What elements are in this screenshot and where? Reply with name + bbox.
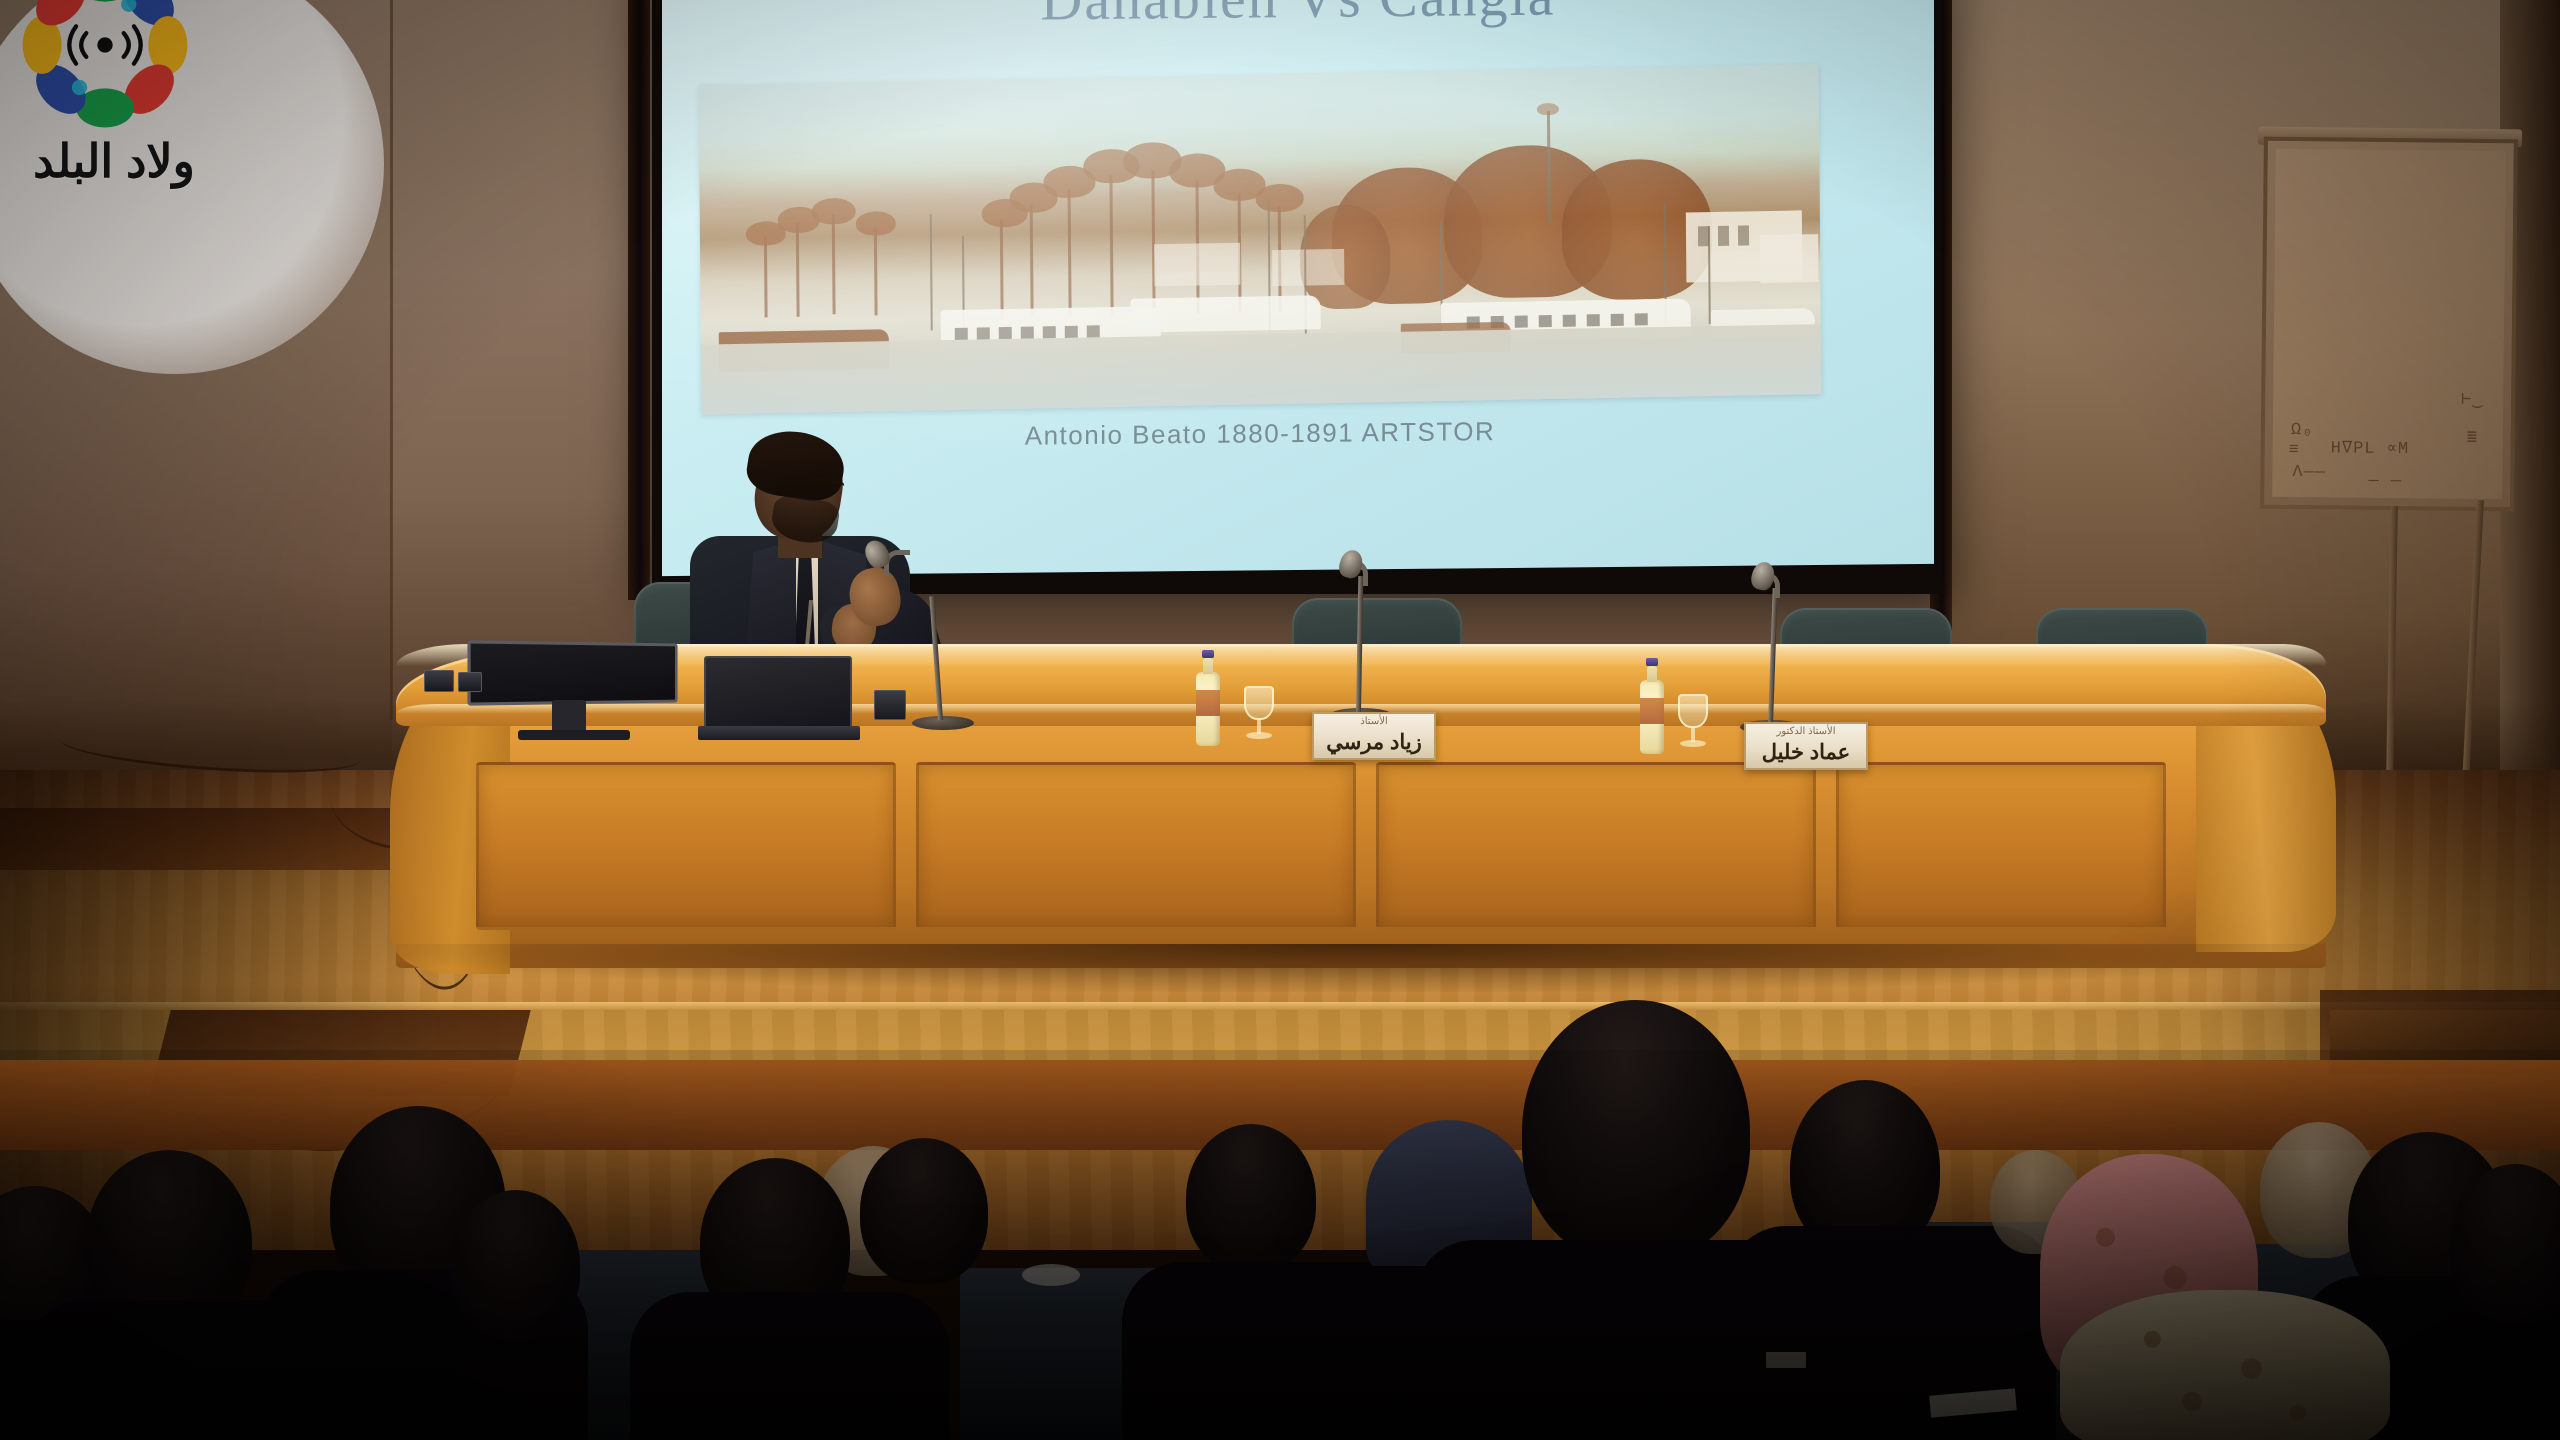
laptop-keyboard[interactable] (698, 726, 860, 740)
nameplate-name: زياد مرسي (1326, 730, 1422, 755)
bottle-neck (1203, 658, 1213, 674)
desk-device[interactable] (458, 672, 482, 692)
flipchart: Ω₀ ≡ H∇PL ∝M Λ—— — — ⊢‿ ≣ (2260, 137, 2518, 512)
wine-glass-foot (1246, 732, 1272, 739)
photo-canvas: Dahabieh Vs Cangia (0, 0, 2560, 1440)
audience-head (1522, 1000, 1750, 1262)
desk-monitor[interactable] (467, 640, 677, 705)
desk-panel-inset (476, 762, 896, 930)
flipchart-sheet: Ω₀ ≡ H∇PL ∝M Λ—— — — ⊢‿ ≣ (2272, 149, 2506, 499)
bottle-cap (1202, 650, 1214, 658)
audience-head (452, 1190, 580, 1340)
audience-paper (1022, 1264, 1080, 1286)
nameplate-name: عماد خليل (1762, 740, 1850, 765)
desk-device[interactable] (424, 670, 454, 692)
desk-panel-inset (916, 762, 1356, 930)
projection-screen: Dahabieh Vs Cangia (652, 0, 1942, 594)
wine-glass[interactable] (1678, 694, 1708, 728)
nameplate-title: الأستاذ الدكتور (1776, 727, 1835, 737)
laptop-screen[interactable] (704, 656, 852, 730)
desk-cast-shadow (396, 944, 2326, 992)
nameplate-title: الأستاذ (1360, 717, 1387, 727)
bottle-label (1640, 698, 1664, 724)
nameplate: الأستاذ الدكتور عماد خليل (1744, 722, 1868, 770)
audience-head (1186, 1124, 1316, 1272)
wine-glass-foot (1680, 740, 1706, 747)
microphone-base (912, 716, 974, 730)
slide-photo-caption: Antonio Beato 1880-1891 ARTSTOR (700, 413, 1820, 455)
projected-slide: Dahabieh Vs Cangia (662, 0, 1934, 576)
audience-body (630, 1292, 950, 1440)
nameplate: الأستاذ زياد مرسي (1312, 712, 1436, 760)
monitor-foot (518, 730, 630, 740)
audience-head (860, 1138, 988, 1284)
desk-panel-inset (1836, 762, 2166, 930)
desk-device[interactable] (874, 690, 906, 720)
slide-title: Dahabieh Vs Cangia (662, 0, 1934, 37)
desk-panel-inset (1376, 762, 1816, 930)
wine-glass[interactable] (1244, 686, 1274, 720)
audience-paper (1766, 1352, 1806, 1368)
monitor-stand (552, 700, 586, 734)
wall-dark-reveal (628, 0, 650, 600)
audience-hijab (2060, 1290, 2390, 1440)
bottle-neck (1647, 666, 1657, 682)
wall-panel-left (0, 0, 392, 760)
bottle-cap (1646, 658, 1658, 666)
bottle-label (1196, 690, 1220, 716)
slide-photo (699, 64, 1822, 414)
wall-seam (390, 0, 393, 720)
